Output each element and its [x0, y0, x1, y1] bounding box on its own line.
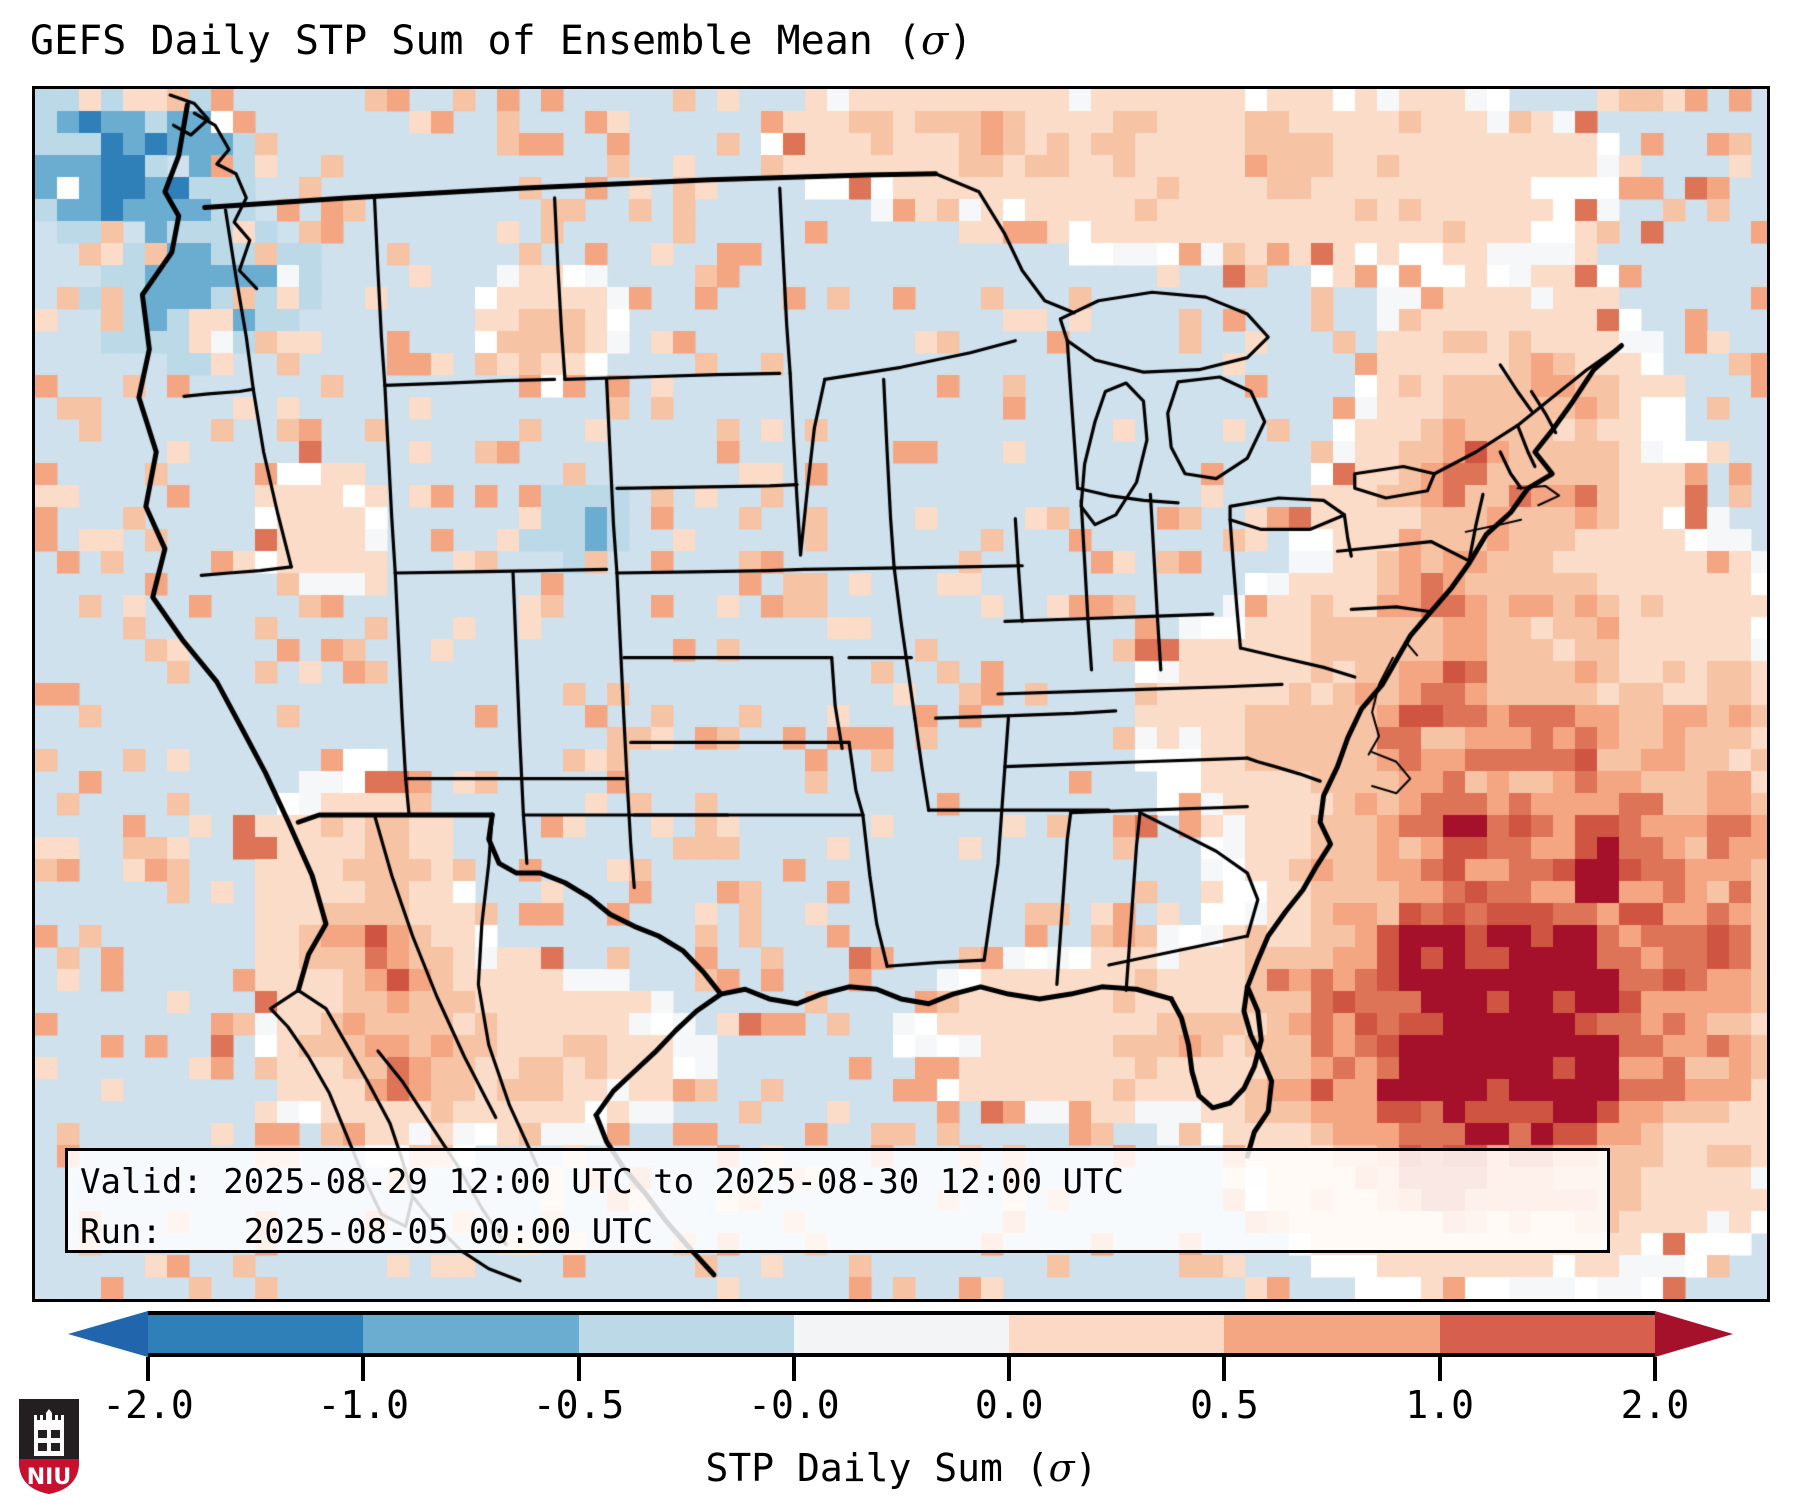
map-plot-area[interactable] — [32, 86, 1770, 1302]
page-title: GEFS Daily STP Sum of Ensemble Mean (σ) — [30, 18, 972, 64]
colorbar-outline — [148, 1311, 1655, 1357]
colorbar-label-text: STP Daily Sum ( — [705, 1446, 1048, 1490]
colorbar-tick-label-2: -0.5 — [499, 1383, 659, 1427]
colorbar-region: -2.0-1.0-0.5-0.00.00.51.02.0 STP Daily S… — [0, 1303, 1803, 1503]
colorbar-tick-0 — [146, 1357, 150, 1381]
colorbar-axis-label: STP Daily Sum (σ) — [0, 1446, 1803, 1490]
colorbar-label-suffix: ) — [1075, 1446, 1098, 1490]
colorbar-tick-label-3: -0.0 — [714, 1383, 874, 1427]
colorbar-tick-3 — [792, 1357, 796, 1381]
colorbar-tick-6 — [1438, 1357, 1442, 1381]
geography-outline-layer — [35, 89, 1767, 1299]
valid-run-annotation-box: Valid: 2025-08-29 12:00 UTC to 2025-08-3… — [65, 1148, 1610, 1253]
valid-time-line: Valid: 2025-08-29 12:00 UTC to 2025-08-3… — [80, 1157, 1595, 1207]
colorbar-tick-label-1: -1.0 — [283, 1383, 443, 1427]
colorbar-tick-label-4: 0.0 — [929, 1383, 1089, 1427]
colorbar-tick-2 — [577, 1357, 581, 1381]
colorbar-under-arrow — [68, 1311, 148, 1357]
colorbar-tick-label-7: 2.0 — [1575, 1383, 1735, 1427]
colorbar-tick-4 — [1007, 1357, 1011, 1381]
niu-logo: NIU — [16, 1396, 82, 1496]
colorbar-sigma-symbol: σ — [1049, 1446, 1075, 1490]
niu-logo-text: NIU — [27, 1465, 71, 1490]
colorbar-tick-5 — [1222, 1357, 1226, 1381]
colorbar-over-arrow — [1655, 1311, 1733, 1357]
page-title-text: GEFS Daily STP Sum of Ensemble Mean ( — [30, 18, 921, 64]
page-title-suffix: ) — [948, 18, 972, 64]
colorbar-tick-7 — [1653, 1357, 1657, 1381]
colorbar-tick-label-5: 0.5 — [1144, 1383, 1304, 1427]
run-time-line: Run: 2025-08-05 00:00 UTC — [80, 1207, 1595, 1257]
colorbar-tick-label-6: 1.0 — [1360, 1383, 1520, 1427]
colorbar-tick-label-0: -2.0 — [68, 1383, 228, 1427]
sigma-symbol: σ — [921, 18, 948, 64]
colorbar-tick-1 — [361, 1357, 365, 1381]
